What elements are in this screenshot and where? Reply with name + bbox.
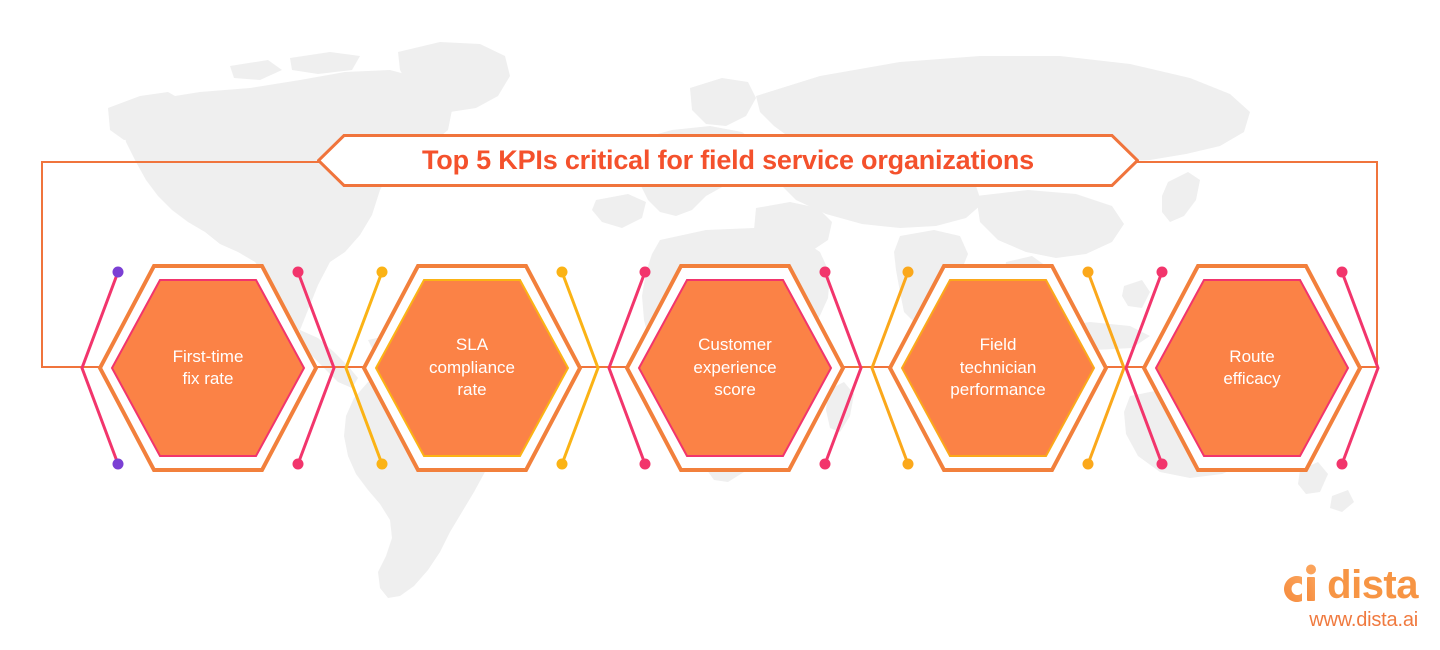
right-bottom-dot [1083,459,1094,470]
right-bottom-dot [293,459,304,470]
kpi-node-field-technician-performance[interactable]: Field technician performance [868,258,1128,478]
title-banner: Top 5 KPIs critical for field service or… [317,134,1139,187]
brand-logo[interactable]: dista www.dista.ai [1280,563,1418,630]
left-top-dot [903,267,914,278]
right-bottom-dot [820,459,831,470]
left-top-dot [113,267,124,278]
logo-url: www.dista.ai [1280,610,1418,630]
hexagon-graphic [868,258,1128,478]
right-top-dot [820,267,831,278]
right-top-dot [1337,267,1348,278]
page-title: Top 5 KPIs critical for field service or… [317,134,1139,187]
dista-mark-icon [1280,563,1320,607]
left-bottom-dot [903,459,914,470]
left-top-dot [1157,267,1168,278]
logo-wordmark: dista [1327,565,1418,605]
kpi-node-customer-experience-score[interactable]: Customer experience score [605,258,865,478]
left-bottom-dot [640,459,651,470]
hexagon-graphic [1122,258,1382,478]
right-bottom-dot [557,459,568,470]
kpi-node-route-efficacy[interactable]: Route efficacy [1122,258,1382,478]
hexagon-graphic [342,258,602,478]
hexagon-graphic [78,258,338,478]
left-bottom-dot [113,459,124,470]
hexagon-graphic [605,258,865,478]
left-top-dot [640,267,651,278]
kpi-hexagon-row: First-time fix rate SLA compliance rate [0,258,1440,478]
right-top-dot [557,267,568,278]
kpi-node-sla-compliance-rate[interactable]: SLA compliance rate [342,258,602,478]
left-bottom-dot [377,459,388,470]
right-top-dot [293,267,304,278]
left-top-dot [377,267,388,278]
right-bottom-dot [1337,459,1348,470]
right-top-dot [1083,267,1094,278]
kpi-node-first-time-fix-rate[interactable]: First-time fix rate [78,258,338,478]
left-bottom-dot [1157,459,1168,470]
